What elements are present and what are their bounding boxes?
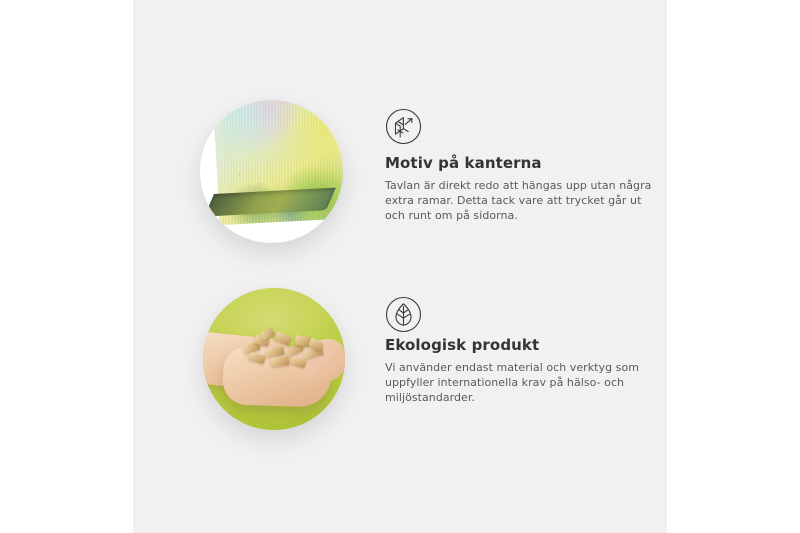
- canvas-illustration: [216, 100, 343, 238]
- feature-description: Tavlan är direkt redo att hängas upp uta…: [385, 178, 655, 224]
- feature-title: Ekologisk produkt: [385, 336, 655, 355]
- feature-text-canvas-edges: Motiv på kanterna Tavlan är direkt redo …: [385, 154, 655, 224]
- feature-text-eco-product: Ekologisk produkt Vi använder endast mat…: [385, 336, 655, 406]
- content-panel: Motiv på kanterna Tavlan är direkt redo …: [133, 0, 667, 533]
- leaf-icon: [385, 296, 422, 333]
- feature-block-canvas-edges: Motiv på kanterna Tavlan är direkt redo …: [133, 100, 667, 250]
- hands-holding-wood-chips-photo: [203, 288, 345, 430]
- feature-description: Vi använder endast material och verktyg …: [385, 360, 655, 406]
- feature-block-eco-product: Ekologisk produkt Vi använder endast mat…: [133, 288, 667, 438]
- canvas-print-corner-photo: [200, 100, 343, 243]
- canvas-wrapped-edges-icon: [385, 108, 422, 145]
- wood-chips-pile: [241, 330, 327, 372]
- feature-title: Motiv på kanterna: [385, 154, 655, 173]
- screenshot-stage: Motiv på kanterna Tavlan är direkt redo …: [0, 0, 800, 533]
